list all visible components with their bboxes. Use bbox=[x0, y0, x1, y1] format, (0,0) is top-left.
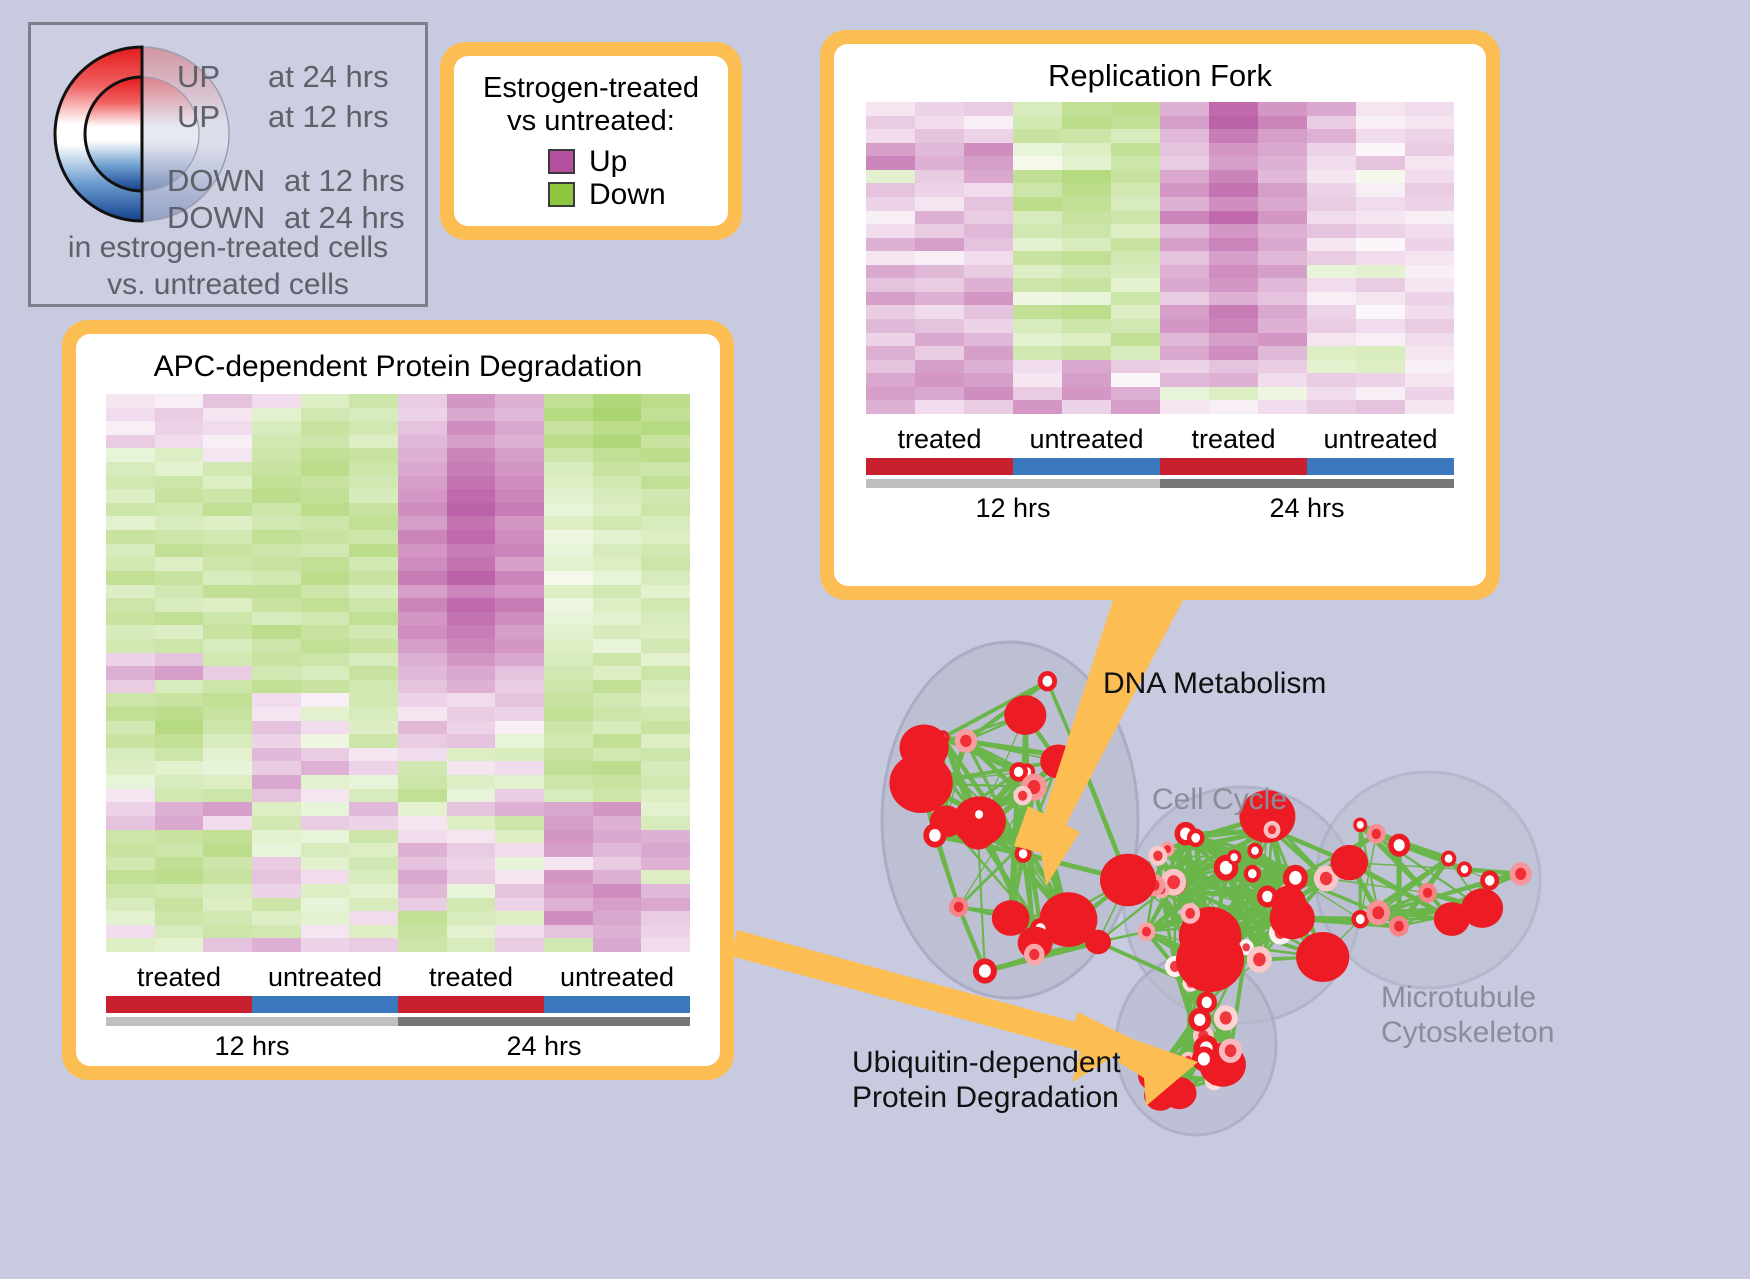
heatmap-cell bbox=[866, 265, 915, 279]
network-node[interactable] bbox=[949, 897, 968, 917]
network-node[interactable] bbox=[1278, 882, 1302, 907]
heatmap-cell bbox=[1013, 373, 1062, 387]
network-node[interactable] bbox=[1176, 928, 1244, 992]
heatmap-cell bbox=[964, 333, 1013, 347]
heatmap-cell bbox=[1111, 292, 1160, 306]
heatmap-cell bbox=[495, 421, 544, 435]
heatmap-cell bbox=[1209, 143, 1258, 157]
heatmap-cell bbox=[593, 408, 642, 422]
network-edge bbox=[1174, 857, 1235, 882]
network-node[interactable] bbox=[1269, 921, 1292, 945]
network-node[interactable] bbox=[1153, 881, 1169, 898]
network-edge bbox=[1465, 869, 1521, 874]
network-edge bbox=[921, 783, 935, 835]
network-node[interactable] bbox=[1187, 829, 1205, 848]
heatmap-cell bbox=[106, 789, 155, 803]
network-edge bbox=[1196, 817, 1268, 838]
network-node[interactable] bbox=[1205, 1070, 1224, 1090]
heatmap-cell bbox=[641, 516, 690, 530]
network-node[interactable] bbox=[1138, 1060, 1171, 1091]
heatmap-cell bbox=[301, 612, 350, 626]
heatmap-cell bbox=[641, 693, 690, 707]
heatmap-cell bbox=[866, 292, 915, 306]
network-node-center bbox=[1167, 875, 1180, 889]
network-edge bbox=[1168, 830, 1273, 849]
network-node[interactable] bbox=[889, 753, 952, 813]
network-edge bbox=[979, 796, 1023, 815]
heatmap-cell bbox=[349, 625, 398, 639]
network-node-center bbox=[1019, 849, 1028, 858]
network-node[interactable] bbox=[1219, 1039, 1242, 1063]
heatmap-cell bbox=[495, 585, 544, 599]
network-edge bbox=[1158, 830, 1272, 856]
heatmap-cell bbox=[641, 585, 690, 599]
heatmap-cell bbox=[447, 761, 496, 775]
heatmap-cell bbox=[203, 870, 252, 884]
network-node[interactable] bbox=[1388, 834, 1410, 857]
network-node[interactable] bbox=[1367, 824, 1386, 844]
network-edge bbox=[1186, 834, 1255, 851]
network-node[interactable] bbox=[1434, 902, 1470, 936]
heatmap-cell bbox=[252, 680, 301, 694]
heatmap-cell bbox=[398, 598, 447, 612]
network-edge bbox=[1175, 878, 1296, 883]
network-edge bbox=[966, 681, 1048, 741]
network-node[interactable] bbox=[1264, 821, 1281, 839]
heatmap-cell bbox=[1258, 170, 1307, 184]
network-node[interactable] bbox=[1021, 774, 1047, 801]
heatmap-cell bbox=[593, 530, 642, 544]
heatmap-cell bbox=[301, 761, 350, 775]
heatmap-cell bbox=[641, 598, 690, 612]
heatmap-cell bbox=[1111, 211, 1160, 225]
network-edge bbox=[1465, 869, 1490, 880]
network-node[interactable] bbox=[1019, 763, 1036, 780]
heatmap-cell bbox=[544, 448, 593, 462]
network-edge bbox=[1234, 857, 1267, 896]
network-edge bbox=[1210, 857, 1234, 936]
network-node[interactable] bbox=[1068, 746, 1092, 771]
heatmap-cell bbox=[1307, 238, 1356, 252]
network-edge bbox=[1168, 838, 1196, 849]
heatmap-cell bbox=[593, 680, 642, 694]
network-node[interactable] bbox=[1040, 745, 1076, 779]
heatmap-cell bbox=[252, 925, 301, 939]
heatmap-cell bbox=[866, 129, 915, 143]
heatmap-cell bbox=[495, 653, 544, 667]
heatmap-cell bbox=[1160, 360, 1209, 374]
heatmap-cell bbox=[155, 394, 204, 408]
heatmap-cell bbox=[495, 544, 544, 558]
heatmap-cell bbox=[1160, 129, 1209, 143]
network-node[interactable] bbox=[1193, 1035, 1219, 1062]
heatmap-cell bbox=[106, 816, 155, 830]
heatmap-cell bbox=[349, 898, 398, 912]
network-node[interactable] bbox=[1271, 886, 1306, 919]
network-node[interactable] bbox=[1418, 883, 1437, 903]
heatmap-cell bbox=[1307, 183, 1356, 197]
heatmap-cell bbox=[203, 544, 252, 558]
network-edge bbox=[966, 741, 1019, 772]
network-edge bbox=[1378, 913, 1452, 919]
network-edge bbox=[1226, 868, 1290, 895]
network-node[interactable] bbox=[1244, 865, 1261, 883]
heatmap-cell bbox=[495, 857, 544, 871]
network-edge bbox=[921, 772, 1027, 783]
network-node[interactable] bbox=[1161, 869, 1186, 896]
heatmap-cell bbox=[447, 476, 496, 490]
network-node[interactable] bbox=[1214, 855, 1239, 881]
network-node[interactable] bbox=[1030, 918, 1051, 940]
heatmap-cell bbox=[252, 625, 301, 639]
network-node[interactable] bbox=[1024, 944, 1045, 966]
network-node[interactable] bbox=[1192, 1046, 1216, 1071]
heatmap-cell bbox=[866, 102, 915, 116]
network-node-center bbox=[1394, 839, 1405, 851]
network-edge bbox=[1267, 897, 1280, 933]
heatmap-cell bbox=[1405, 278, 1454, 292]
network-edge bbox=[1158, 856, 1260, 960]
heatmap-cell bbox=[495, 394, 544, 408]
network-node[interactable] bbox=[900, 725, 949, 771]
heatmap-cell bbox=[106, 870, 155, 884]
network-edge bbox=[1234, 830, 1272, 858]
heatmap-cell bbox=[398, 789, 447, 803]
network-node[interactable] bbox=[930, 806, 964, 838]
network-edge bbox=[1175, 883, 1292, 918]
heatmap-cell bbox=[398, 394, 447, 408]
heatmap-cell bbox=[252, 462, 301, 476]
network-node[interactable] bbox=[1247, 843, 1262, 859]
network-edge bbox=[1161, 883, 1175, 890]
heatmap-cell bbox=[203, 653, 252, 667]
heatmap-cell bbox=[641, 816, 690, 830]
network-node[interactable] bbox=[1461, 889, 1503, 928]
network-node[interactable] bbox=[1510, 862, 1532, 885]
heatmap-cell bbox=[544, 938, 593, 952]
network-edge bbox=[1174, 834, 1186, 883]
network-edge bbox=[1210, 902, 1288, 936]
heatmap-cell bbox=[1209, 116, 1258, 130]
heatmap-cell bbox=[1160, 143, 1209, 157]
network-node[interactable] bbox=[1144, 1080, 1176, 1110]
heatmap-cell bbox=[1307, 129, 1356, 143]
network-edge bbox=[1023, 715, 1026, 796]
network-edge bbox=[1272, 830, 1323, 957]
network-node[interactable] bbox=[1013, 786, 1032, 806]
network-node[interactable] bbox=[971, 806, 987, 823]
network-node-center bbox=[1074, 752, 1086, 765]
heatmap-cell bbox=[1356, 224, 1405, 238]
network-edge bbox=[1203, 936, 1210, 1036]
network-edge bbox=[1186, 834, 1191, 914]
network-node[interactable] bbox=[1144, 874, 1165, 896]
network-node[interactable] bbox=[1039, 892, 1097, 947]
network-edge bbox=[1034, 942, 1098, 955]
heatmap-cell bbox=[593, 639, 642, 653]
network-node[interactable] bbox=[1180, 1052, 1196, 1069]
network-node[interactable] bbox=[1016, 832, 1034, 851]
network-edge bbox=[979, 814, 1023, 853]
network-node[interactable] bbox=[1389, 916, 1409, 937]
heatmap-cell bbox=[447, 857, 496, 871]
network-edge bbox=[1011, 854, 1023, 918]
network-node[interactable] bbox=[1193, 1025, 1214, 1047]
heatmap-cell bbox=[593, 557, 642, 571]
network-edge bbox=[1186, 834, 1281, 933]
network-node[interactable] bbox=[1441, 851, 1456, 867]
axis-group-label: untreated bbox=[1013, 424, 1160, 455]
network-edge bbox=[1154, 849, 1167, 885]
network-node[interactable] bbox=[1185, 952, 1221, 986]
heatmap-cell bbox=[106, 748, 155, 762]
heatmap-cell bbox=[252, 503, 301, 517]
network-edge bbox=[921, 783, 979, 814]
network-node[interactable] bbox=[1296, 932, 1349, 982]
network-node[interactable] bbox=[1366, 900, 1390, 925]
network-node-center bbox=[1184, 1056, 1192, 1065]
network-node[interactable] bbox=[1239, 939, 1254, 955]
network-edge bbox=[1360, 834, 1376, 919]
heatmap-cell bbox=[398, 571, 447, 585]
heatmap-cell bbox=[1258, 183, 1307, 197]
network-edge bbox=[959, 842, 1025, 907]
heatmap-cell bbox=[1209, 265, 1258, 279]
heatmap-cell bbox=[964, 129, 1013, 143]
network-node[interactable] bbox=[1196, 992, 1217, 1014]
heatmap-cell bbox=[301, 516, 350, 530]
network-node[interactable] bbox=[1188, 1008, 1211, 1032]
network-edge bbox=[1267, 817, 1272, 830]
heatmap-cell bbox=[866, 305, 915, 319]
network-node[interactable] bbox=[1457, 861, 1472, 877]
apc-axis: treateduntreatedtreateduntreated12 hrs24… bbox=[106, 962, 690, 1062]
network-node[interactable] bbox=[955, 729, 978, 753]
heatmap-cell bbox=[593, 925, 642, 939]
heatmap-cell bbox=[1013, 400, 1062, 414]
network-node[interactable] bbox=[953, 796, 1006, 846]
heatmap-cell bbox=[1111, 197, 1160, 211]
network-node[interactable] bbox=[1018, 927, 1053, 960]
network-edge bbox=[1360, 893, 1427, 919]
network-edge bbox=[1011, 918, 1041, 929]
treatment-bar bbox=[866, 458, 1013, 475]
network-edge bbox=[1158, 856, 1175, 883]
network-edge bbox=[1376, 834, 1464, 869]
network-edge bbox=[1196, 838, 1213, 972]
heatmap-cell bbox=[1405, 373, 1454, 387]
network-node[interactable] bbox=[1247, 946, 1272, 972]
network-edge bbox=[943, 738, 980, 815]
network-node-center bbox=[1185, 908, 1195, 919]
heatmap-cell bbox=[155, 503, 204, 517]
network-edge bbox=[985, 955, 1034, 972]
heatmap-cell bbox=[495, 666, 544, 680]
network-node[interactable] bbox=[961, 817, 995, 849]
heatmap-cell bbox=[866, 346, 915, 360]
heatmap-cell bbox=[349, 585, 398, 599]
network-node-center bbox=[1142, 927, 1151, 937]
heatmap-cell bbox=[593, 653, 642, 667]
network-node[interactable] bbox=[1179, 907, 1242, 966]
heatmap-cell bbox=[1405, 238, 1454, 252]
network-node[interactable] bbox=[1085, 930, 1111, 954]
network-node-center bbox=[979, 964, 991, 977]
network-edge bbox=[943, 738, 1019, 772]
network-node[interactable] bbox=[1138, 922, 1156, 941]
heatmap-cell bbox=[964, 400, 1013, 414]
down-swatch-icon bbox=[548, 182, 575, 207]
network-node[interactable] bbox=[1162, 1077, 1196, 1109]
network-node[interactable] bbox=[1038, 671, 1057, 691]
heatmap-cell bbox=[641, 898, 690, 912]
network-node[interactable] bbox=[1180, 903, 1200, 924]
network-edge bbox=[1147, 857, 1235, 931]
heatmap-cell bbox=[349, 557, 398, 571]
heatmap-cell bbox=[203, 802, 252, 816]
network-edge bbox=[921, 783, 959, 907]
network-edge bbox=[1231, 947, 1247, 1050]
heatmap-cell bbox=[495, 503, 544, 517]
network-node[interactable] bbox=[1148, 1064, 1163, 1080]
heatmap-cell bbox=[301, 544, 350, 558]
heatmap-cell bbox=[155, 898, 204, 912]
network-edge bbox=[1155, 1076, 1215, 1081]
heatmap-cell bbox=[641, 761, 690, 775]
network-node[interactable] bbox=[1175, 822, 1197, 846]
network-edge bbox=[1154, 885, 1246, 947]
network-node[interactable] bbox=[1183, 975, 1199, 992]
heatmap-cell bbox=[641, 870, 690, 884]
timepoint-color-bars bbox=[866, 479, 1454, 488]
cmap-row-2-state: DOWN bbox=[167, 165, 265, 196]
network-edge bbox=[1147, 883, 1175, 932]
heatmap-cell bbox=[349, 707, 398, 721]
heatmap-cell bbox=[544, 625, 593, 639]
heatmap-cell bbox=[398, 476, 447, 490]
heatmap-cell bbox=[349, 666, 398, 680]
network-edge bbox=[978, 762, 1058, 834]
network-node[interactable] bbox=[1480, 870, 1499, 890]
network-node[interactable] bbox=[1314, 866, 1339, 892]
network-node-center bbox=[1445, 854, 1453, 862]
network-node[interactable] bbox=[1165, 956, 1185, 977]
network-node[interactable] bbox=[1148, 846, 1167, 866]
heatmap-cell bbox=[593, 598, 642, 612]
heatmap-cell bbox=[203, 503, 252, 517]
heatmap-cell bbox=[1209, 387, 1258, 401]
heatmap-cell bbox=[155, 516, 204, 530]
network-edge bbox=[1255, 851, 1290, 895]
heatmap-cell bbox=[1209, 346, 1258, 360]
network-node[interactable] bbox=[1015, 845, 1032, 863]
network-node[interactable] bbox=[936, 730, 950, 745]
network-node[interactable] bbox=[992, 900, 1030, 936]
network-node[interactable] bbox=[1257, 886, 1278, 908]
network-edge bbox=[1213, 874, 1252, 972]
network-node-center bbox=[1169, 877, 1181, 890]
treatment-color-bars bbox=[106, 996, 690, 1013]
network-edge bbox=[959, 907, 1069, 920]
network-edge bbox=[1128, 856, 1158, 880]
network-node[interactable] bbox=[1353, 818, 1367, 833]
network-node[interactable] bbox=[1004, 695, 1046, 735]
network-node[interactable] bbox=[1204, 962, 1222, 981]
network-edge bbox=[1147, 918, 1293, 932]
heatmap-cell bbox=[641, 448, 690, 462]
network-node[interactable] bbox=[1174, 1083, 1188, 1098]
heatmap-cell bbox=[1356, 319, 1405, 333]
heatmap-cell bbox=[544, 748, 593, 762]
heatmap-cell bbox=[349, 734, 398, 748]
network-node[interactable] bbox=[1270, 897, 1315, 939]
heatmap-cell bbox=[964, 224, 1013, 238]
heatmap-cell bbox=[398, 408, 447, 422]
heatmap-cell bbox=[203, 516, 252, 530]
network-edge bbox=[1156, 1072, 1180, 1093]
network-node[interactable] bbox=[1199, 1043, 1246, 1087]
network-node[interactable] bbox=[923, 823, 946, 847]
network-edge bbox=[1399, 908, 1482, 926]
network-edge bbox=[947, 796, 1023, 822]
cluster-label-microtubule: Microtubule Cytoskeleton bbox=[1381, 980, 1554, 1051]
network-node[interactable] bbox=[1283, 865, 1308, 891]
heatmap-cell bbox=[1013, 360, 1062, 374]
heatmap-cell bbox=[447, 938, 496, 952]
heatmap-cell bbox=[203, 612, 252, 626]
heatmap-cell bbox=[155, 857, 204, 871]
network-node[interactable] bbox=[973, 958, 997, 983]
network-edge bbox=[1161, 830, 1272, 890]
heatmap-cell bbox=[301, 843, 350, 857]
network-node[interactable] bbox=[1009, 762, 1028, 782]
network-node-center bbox=[1423, 888, 1432, 898]
network-edge bbox=[985, 942, 1098, 971]
network-edge bbox=[1068, 920, 1098, 942]
heatmap-cell bbox=[1062, 197, 1111, 211]
heatmap-cell bbox=[203, 693, 252, 707]
network-node[interactable] bbox=[1160, 842, 1175, 857]
network-node[interactable] bbox=[1163, 871, 1187, 896]
heatmap-cell bbox=[593, 898, 642, 912]
network-edge bbox=[1154, 885, 1203, 969]
network-edge bbox=[1186, 830, 1272, 834]
heatmap-cell bbox=[349, 721, 398, 735]
heatmap-cell bbox=[1405, 360, 1454, 374]
network-edge bbox=[1200, 1020, 1231, 1051]
network-edge bbox=[1349, 863, 1464, 870]
heatmap-cell bbox=[544, 802, 593, 816]
network-node[interactable] bbox=[1227, 850, 1242, 865]
network-node-center bbox=[1180, 828, 1191, 840]
heatmap-cell bbox=[447, 516, 496, 530]
heatmap-cell bbox=[1258, 102, 1307, 116]
network-edge bbox=[1196, 838, 1211, 936]
heatmap-cell bbox=[641, 612, 690, 626]
heatmap-cell bbox=[203, 789, 252, 803]
network-node[interactable] bbox=[1100, 854, 1156, 907]
network-edge bbox=[1174, 882, 1211, 936]
network-node[interactable] bbox=[1351, 910, 1369, 929]
network-node[interactable] bbox=[1331, 845, 1369, 880]
network-edge bbox=[924, 681, 1047, 747]
heatmap-cell bbox=[398, 544, 447, 558]
heatmap-cell bbox=[301, 938, 350, 952]
heatmap-cell bbox=[1013, 251, 1062, 265]
heatmap-cell bbox=[155, 734, 204, 748]
heatmap-cell bbox=[1405, 387, 1454, 401]
network-node[interactable] bbox=[1214, 1005, 1238, 1030]
